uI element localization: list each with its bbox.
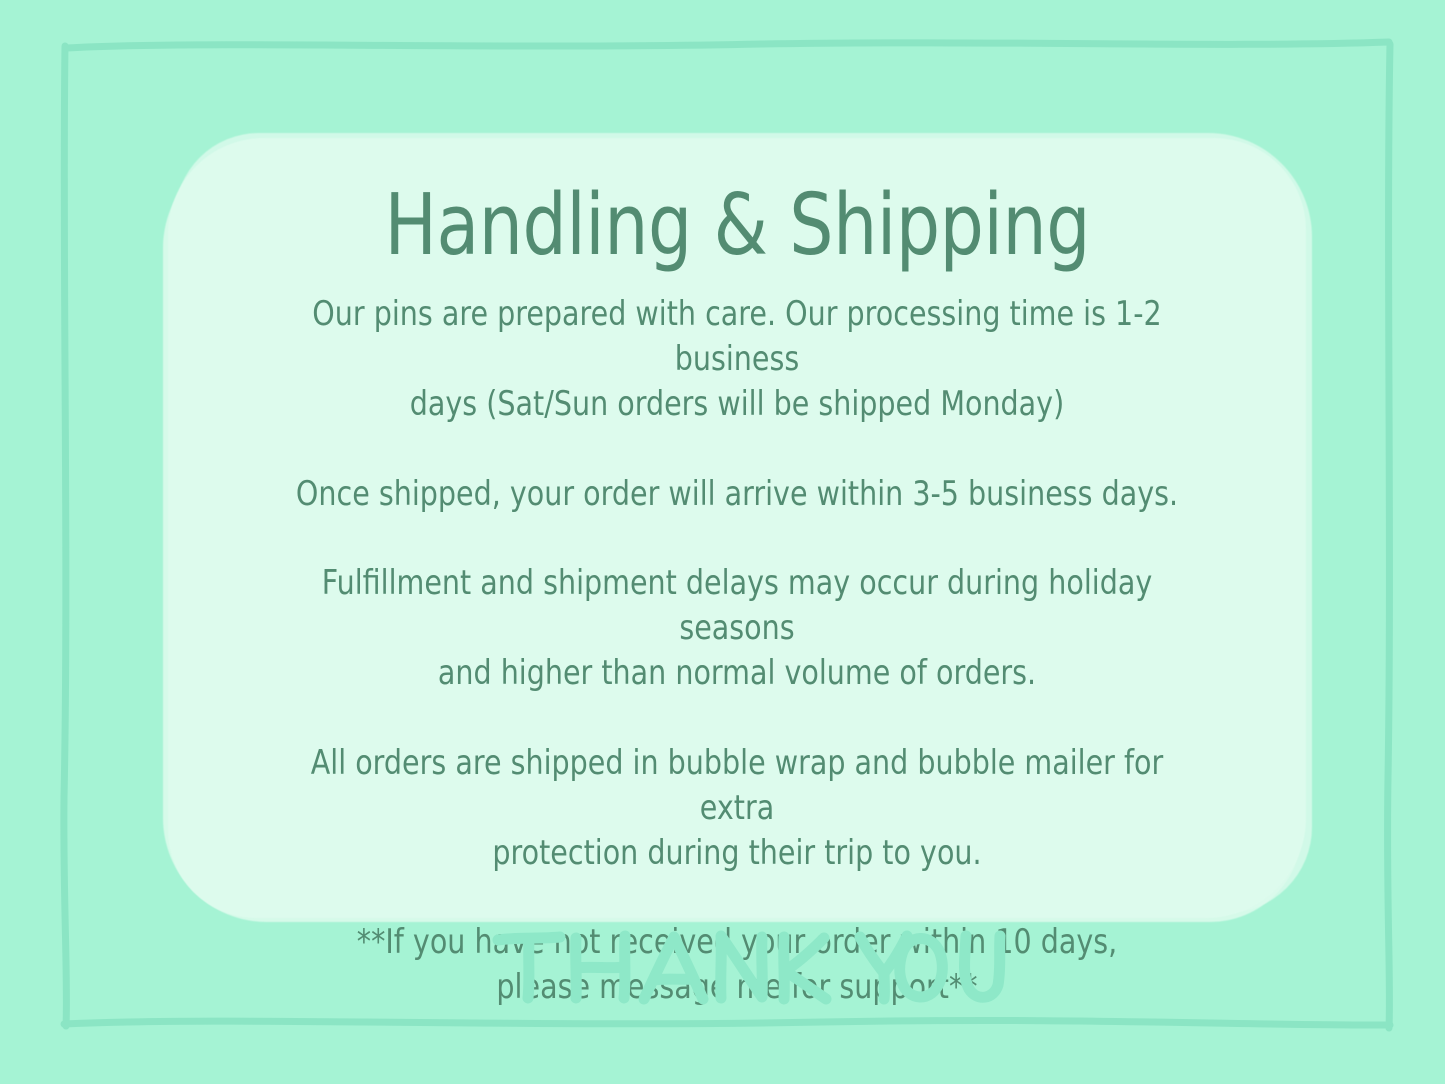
paragraph-holiday-delays: Fulfillment and shipment delays may occu… bbox=[292, 561, 1182, 697]
paragraph-support-note: **If you have not received your order wi… bbox=[292, 920, 1182, 1010]
page-title: Handling & Shipping bbox=[384, 183, 1090, 268]
paragraph-delivery-time: Once shipped, your order will arrive wit… bbox=[292, 472, 1182, 517]
paragraph-processing-time: Our pins are prepared with care. Our pro… bbox=[292, 292, 1182, 428]
body-text: Our pins are prepared with care. Our pro… bbox=[207, 292, 1267, 1011]
shipping-info-poster: Handling & Shipping Our pins are prepare… bbox=[0, 0, 1445, 1084]
paragraph-packaging: All orders are shipped in bubble wrap an… bbox=[292, 741, 1182, 877]
card-content: Handling & Shipping Our pins are prepare… bbox=[168, 138, 1306, 918]
